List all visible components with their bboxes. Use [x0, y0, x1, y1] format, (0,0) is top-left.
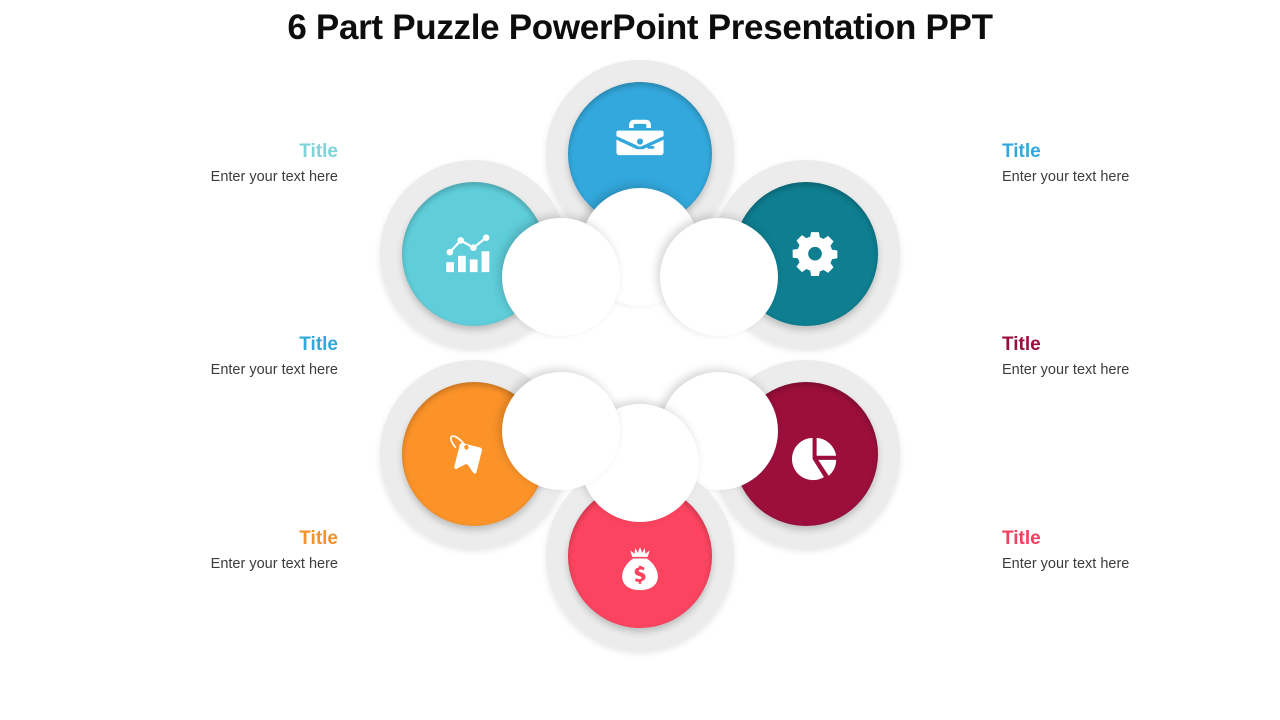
label-body: Enter your text here — [108, 362, 338, 379]
segment-bite — [502, 218, 620, 336]
segment-bite — [660, 218, 778, 336]
segment-bite — [502, 372, 620, 490]
puzzle-segment-bottom[interactable] — [546, 462, 734, 650]
puzzle-segment-top-right[interactable] — [712, 160, 900, 348]
label-block-mid-right: Title Enter your text here — [1002, 335, 1232, 379]
puzzle-segment-bottom-right[interactable] — [712, 360, 900, 548]
label-block-top-left: Title Enter your text here — [108, 142, 338, 186]
label-body: Enter your text here — [108, 169, 338, 186]
label-block-mid-left: Title Enter your text here — [108, 335, 338, 379]
page-title: 6 Part Puzzle PowerPoint Presentation PP… — [0, 8, 1280, 48]
puzzle-segment-bottom-left[interactable] — [380, 360, 568, 548]
label-title: Title — [108, 335, 338, 356]
label-title: Title — [1002, 335, 1232, 356]
label-title: Title — [1002, 142, 1232, 163]
label-body: Enter your text here — [108, 556, 338, 573]
label-title: Title — [108, 529, 338, 550]
label-block-bottom-left: Title Enter your text here — [108, 529, 338, 573]
puzzle-diagram — [340, 50, 940, 680]
label-block-top-right: Title Enter your text here — [1002, 142, 1232, 186]
label-body: Enter your text here — [1002, 169, 1232, 186]
label-title: Title — [108, 142, 338, 163]
puzzle-segment-top-left[interactable] — [380, 160, 568, 348]
label-body: Enter your text here — [1002, 362, 1232, 379]
label-title: Title — [1002, 529, 1232, 550]
label-body: Enter your text here — [1002, 556, 1232, 573]
label-block-bottom-right: Title Enter your text here — [1002, 529, 1232, 573]
